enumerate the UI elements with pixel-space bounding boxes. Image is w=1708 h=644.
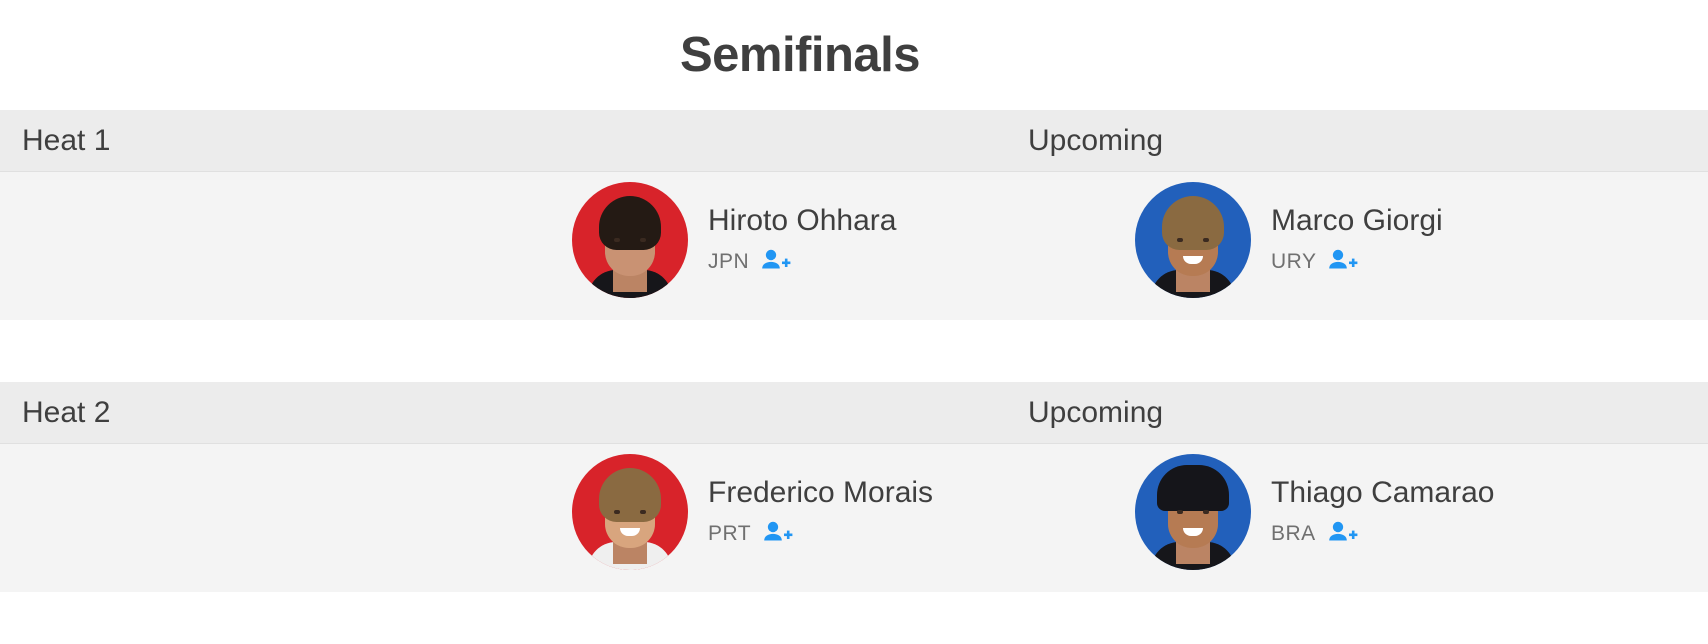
athlete-country: URY bbox=[1271, 250, 1316, 274]
athlete-text: Marco Giorgi URY bbox=[1271, 204, 1443, 277]
athlete-meta: URY bbox=[1271, 248, 1443, 277]
athlete-text: Frederico Morais PRT bbox=[708, 476, 933, 549]
heat-label: Heat 1 bbox=[22, 124, 110, 158]
athlete-name: Frederico Morais bbox=[708, 476, 933, 509]
portrait-icon bbox=[572, 182, 688, 298]
heat-block: Heat 1 Upcoming Hiroto Ohhara bbox=[0, 110, 1708, 320]
portrait-icon bbox=[1135, 182, 1251, 298]
athlete-name: Thiago Camarao bbox=[1271, 476, 1494, 509]
page-title: Semifinals bbox=[680, 27, 920, 83]
athlete-entry[interactable]: Marco Giorgi URY bbox=[1135, 182, 1443, 298]
athlete-country: BRA bbox=[1271, 522, 1316, 546]
heat-header[interactable]: Heat 2 Upcoming bbox=[0, 382, 1708, 444]
status-badge: Upcoming bbox=[1028, 124, 1163, 158]
bracket-round-view: Semifinals Heat 1 Upcoming bbox=[0, 0, 1708, 644]
round-title-bar: Semifinals bbox=[0, 0, 1708, 110]
portrait-icon bbox=[572, 454, 688, 570]
avatar bbox=[572, 182, 688, 298]
avatar bbox=[1135, 182, 1251, 298]
athlete-country: PRT bbox=[708, 522, 751, 546]
heat-body: Frederico Morais PRT bbox=[0, 444, 1708, 592]
athlete-meta: JPN bbox=[708, 248, 896, 277]
athlete-entry[interactable]: Hiroto Ohhara JPN bbox=[572, 182, 896, 298]
athlete-text: Thiago Camarao BRA bbox=[1271, 476, 1494, 549]
avatar bbox=[572, 454, 688, 570]
heat-label: Heat 2 bbox=[22, 396, 110, 430]
add-person-icon[interactable] bbox=[763, 520, 793, 549]
portrait-icon bbox=[1135, 454, 1251, 570]
athlete-meta: PRT bbox=[708, 520, 933, 549]
add-person-icon[interactable] bbox=[1328, 520, 1358, 549]
athlete-name: Marco Giorgi bbox=[1271, 204, 1443, 237]
heat-block: Heat 2 Upcoming Frederico bbox=[0, 382, 1708, 592]
add-person-icon[interactable] bbox=[1328, 248, 1358, 277]
heat-separator bbox=[0, 320, 1708, 382]
heat-body: Hiroto Ohhara JPN bbox=[0, 172, 1708, 320]
athlete-name: Hiroto Ohhara bbox=[708, 204, 896, 237]
athlete-entry[interactable]: Frederico Morais PRT bbox=[572, 454, 933, 570]
add-person-icon[interactable] bbox=[761, 248, 791, 277]
athlete-country: JPN bbox=[708, 250, 749, 274]
athlete-text: Hiroto Ohhara JPN bbox=[708, 204, 896, 277]
athlete-meta: BRA bbox=[1271, 520, 1494, 549]
athlete-entry[interactable]: Thiago Camarao BRA bbox=[1135, 454, 1494, 570]
avatar bbox=[1135, 454, 1251, 570]
heat-header[interactable]: Heat 1 Upcoming bbox=[0, 110, 1708, 172]
status-badge: Upcoming bbox=[1028, 396, 1163, 430]
